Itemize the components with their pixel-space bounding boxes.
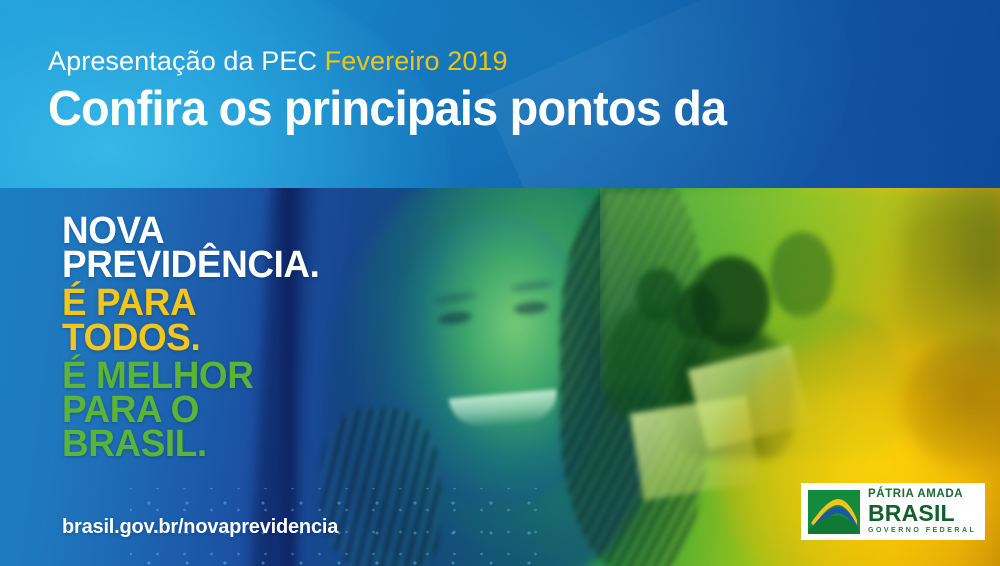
header-text-block: Apresentação da PEC Fevereiro 2019 Confi… bbox=[48, 46, 968, 135]
header-banner: Apresentação da PEC Fevereiro 2019 Confi… bbox=[0, 0, 1000, 188]
logo-brasil: BRASIL bbox=[868, 502, 976, 525]
website-url[interactable]: brasil.gov.br/novaprevidencia bbox=[62, 516, 338, 539]
government-logo: PÁTRIA AMADA BRASIL GOVERNO FEDERAL bbox=[801, 483, 985, 540]
student-head-4 bbox=[770, 232, 834, 318]
promo-banner: Apresentação da PEC Fevereiro 2019 Confi… bbox=[0, 0, 1000, 566]
slogan-line-2: PREVIDÊNCIA. bbox=[62, 248, 353, 282]
slogan-line-5: É MELHOR bbox=[62, 359, 353, 393]
slogan-line-6: PARA O bbox=[62, 393, 353, 427]
header-kicker: Apresentação da PEC Fevereiro 2019 bbox=[48, 46, 968, 76]
government-logo-text: PÁTRIA AMADA BRASIL GOVERNO FEDERAL bbox=[868, 489, 976, 534]
header-kicker-prefix: Apresentação da PEC bbox=[48, 46, 325, 76]
header-kicker-date: Fevereiro 2019 bbox=[325, 46, 508, 76]
slogan-line-1: NOVA bbox=[62, 214, 353, 248]
slogan-line-4: TODOS. bbox=[62, 321, 353, 355]
slogan-line-7: BRASIL. bbox=[62, 427, 353, 461]
slogan-line-3: É PARA bbox=[62, 286, 353, 320]
logo-governo-federal: GOVERNO FEDERAL bbox=[868, 527, 976, 534]
poster-slogan: NOVA PREVIDÊNCIA. É PARA TODOS. É MELHOR… bbox=[62, 214, 362, 461]
brasil-flag-mark-icon bbox=[808, 490, 860, 534]
student-head-3 bbox=[692, 256, 770, 348]
page-title: Confira os principais pontos da bbox=[48, 85, 927, 135]
logo-patria-amada: PÁTRIA AMADA bbox=[868, 489, 976, 501]
